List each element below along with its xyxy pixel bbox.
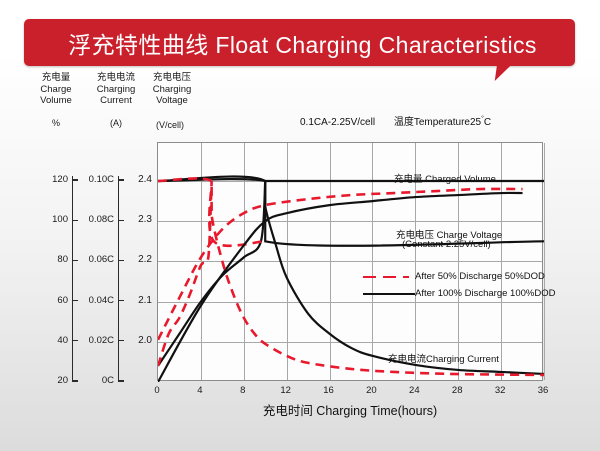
- axis-tick-label: 0.08C: [70, 214, 114, 225]
- chart-conditions: 0.1CA-2.25V/cell 温度Temperature25°C: [300, 113, 491, 128]
- axis-tick-label: 2.4: [122, 174, 152, 185]
- axis-spine-current: [118, 176, 119, 382]
- axis-header-charge-volume: 充电量 Charge Volume: [30, 72, 82, 107]
- axis-tick-label: 0C: [70, 375, 114, 386]
- axis-tick-label-time: 36: [531, 385, 555, 396]
- axis-tick-label-time: 24: [402, 385, 426, 396]
- header-banner: 浮充特性曲线 Float Charging Characteristics: [24, 19, 575, 66]
- gridline-vertical: [544, 143, 545, 380]
- legend-label-100dod: After 100% Discharge 100%DOD: [415, 288, 555, 299]
- axis-spine-volume: [72, 176, 73, 382]
- axis-tick-label: 2.3: [122, 214, 152, 225]
- legend-item-50dod: After 50% Discharge 50%DOD: [363, 268, 555, 285]
- axis-tick-label: 100: [28, 214, 68, 225]
- condition-temperature: 温度Temperature25: [394, 117, 481, 128]
- condition-spec: 0.1CA-2.25V/cell: [300, 117, 375, 128]
- axis-tick-label: 120: [28, 174, 68, 185]
- legend-swatch-solid-icon: [363, 289, 409, 299]
- temperature-unit: C: [484, 117, 491, 128]
- axis-title-time: 充电时间 Charging Time(hours): [157, 400, 543, 419]
- axis-tick-label: 2.2: [122, 254, 152, 265]
- annotation-charging-current: 充电电流Charging Current: [388, 351, 499, 365]
- axis-unit-charge-volume: %: [30, 118, 82, 128]
- axis-tick-label-time: 16: [317, 385, 341, 396]
- axis-tick-label-time: 4: [188, 385, 212, 396]
- axis-tick-label: 60: [28, 295, 68, 306]
- axis-tick-label: 0.06C: [70, 254, 114, 265]
- axis-tick-label-time: 28: [445, 385, 469, 396]
- legend-swatch-dashed-icon: [363, 272, 409, 282]
- annotation-charged-volume: 充电量 Charged Volume: [394, 171, 496, 185]
- legend-item-100dod: After 100% Discharge 100%DOD: [363, 285, 555, 302]
- axis-tick-label: 20: [28, 375, 68, 386]
- axis-tick-label: 40: [28, 335, 68, 346]
- axis-tick-label: 2.1: [122, 295, 152, 306]
- axis-unit-charging-current: (A): [88, 118, 144, 128]
- axis-tick-label-time: 12: [274, 385, 298, 396]
- chart-plot-area: 充电量 Charged Volume 充电电压 Charge Voltage (…: [157, 142, 543, 381]
- chart-series-line: [158, 189, 523, 340]
- axis-tick-label: 0.10C: [70, 174, 114, 185]
- axis-unit-charging-voltage: (V/cell): [140, 120, 200, 130]
- axis-tick-label: 80: [28, 254, 68, 265]
- axis-tick: [118, 380, 124, 381]
- axis-tick-label: 2.0: [122, 335, 152, 346]
- page-title: 浮充特性曲线 Float Charging Characteristics: [24, 19, 575, 66]
- chart-legend: After 50% Discharge 50%DOD After 100% Di…: [363, 268, 555, 302]
- axis-tick-label-time: 8: [231, 385, 255, 396]
- axis-tick-label-time: 32: [488, 385, 512, 396]
- axis-tick-label: 0.02C: [70, 335, 114, 346]
- axis-header-charging-current: 充电电流 Charging Current: [88, 72, 144, 107]
- annotation-charge-voltage-sub: (Constant 2.25V/cell): [402, 239, 491, 250]
- axis-tick-label-time: 0: [145, 385, 169, 396]
- axis-tick-label-time: 20: [359, 385, 383, 396]
- axis-tick-label: 0.04C: [70, 295, 114, 306]
- axis-header-charging-voltage: 充电电压 Charging Voltage: [144, 72, 200, 107]
- legend-label-50dod: After 50% Discharge 50%DOD: [415, 271, 545, 282]
